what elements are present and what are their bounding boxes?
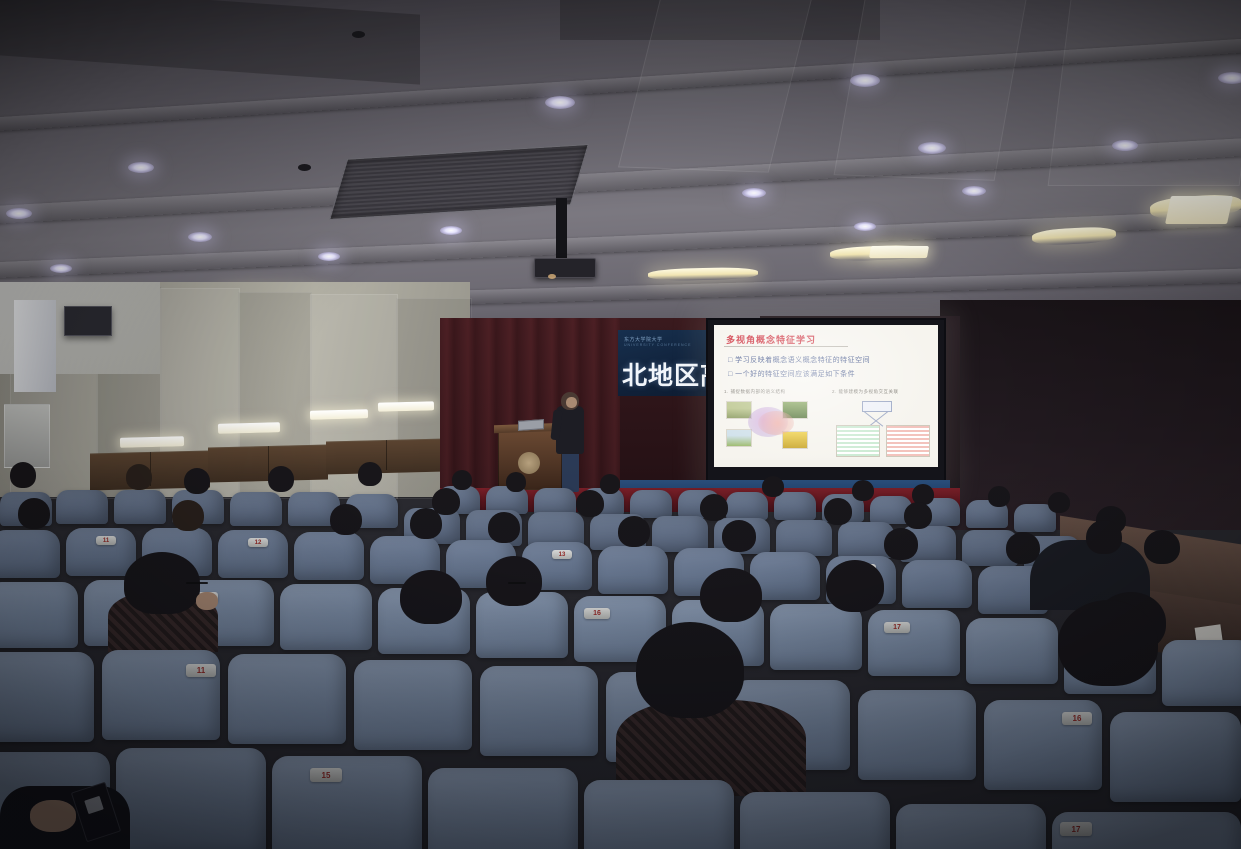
seat-number-plate: 16 [1062,712,1092,725]
seat-number-plate: 17 [884,622,910,633]
seat[interactable] [0,530,60,578]
doorway-light [14,300,56,392]
laptop [518,419,544,431]
wall-sconce [120,436,184,448]
seat[interactable] [280,584,372,650]
slide-image-pink-shirt [886,425,930,457]
slide-title: 多视角概念特征学习 [726,333,816,346]
presenter-face [566,397,577,408]
right-wall [940,300,1241,530]
seat-number-plate: 12 [248,538,268,547]
seat[interactable] [740,792,890,849]
attendee-head [700,494,728,521]
attendee-hand [196,592,218,610]
attendee-head [410,508,442,539]
seat-number-plate: 11 [96,536,116,545]
seat-number-plate: 11 [186,664,216,677]
ceiling-downlight [854,222,876,231]
projector [534,258,596,278]
banner-subtitle-latin: UNIVERSITY CONFERENCE [624,343,691,347]
lectern-emblem [518,452,540,474]
seat[interactable] [896,804,1046,849]
wall-sconce [218,422,280,434]
attendee-head [722,520,756,552]
wall-sconce [378,401,434,411]
attendee-head [10,462,36,488]
attendee-head [1086,520,1122,554]
smoke-detector-icon [298,164,311,171]
seat-number-plate: 17 [1060,822,1092,836]
ceiling-downlight [1112,140,1138,151]
ceiling-downlight [1218,72,1241,84]
attendee-head [268,466,294,492]
attendee-head [126,464,152,490]
seat[interactable] [774,492,816,520]
seat[interactable] [114,490,166,524]
ceiling-downlight [128,162,154,173]
attendee-head [762,476,784,497]
ceiling [0,0,1241,330]
attendee-head [172,500,204,531]
attendee-head [486,556,542,606]
ceiling-downlight [962,186,986,196]
ceiling-downlight [545,96,575,109]
seat[interactable] [272,756,422,849]
attendee-head [184,468,210,494]
air-vent-grille [329,144,589,220]
cove-light [869,246,929,258]
slide-image-green-shirt [836,425,880,457]
seat[interactable] [230,492,282,526]
seat[interactable] [726,492,768,520]
attendee-head [700,568,762,622]
seat[interactable] [902,560,972,608]
attendee-head [988,486,1010,507]
smoke-detector-icon [352,31,365,38]
seat[interactable] [776,520,832,556]
seat-number-plate: 15 [310,768,342,782]
attendee-head [852,480,874,501]
ceiling-downlight [6,208,32,219]
ceiling-downlight [918,142,946,154]
ceiling-downlight [318,252,340,261]
seat[interactable] [0,582,78,648]
attendee-head [18,498,50,529]
ceiling-downlight [440,226,462,235]
slide-concept-blob [758,411,794,435]
attendee-head [452,470,472,490]
attendee-head [576,490,604,517]
attendee-head [358,462,382,486]
wall-loudspeaker [64,306,112,336]
projector-lens-icon [548,274,556,279]
seat[interactable] [1110,712,1241,802]
glasses-icon [508,582,526,584]
attendee-head [824,498,852,525]
attendee-hand [30,800,76,832]
slide-thumbnail-field [726,429,752,447]
slide-bullet: □ 学习反映着概念语义概念特征的特征空间 [728,355,870,365]
seat[interactable] [0,652,94,742]
seat[interactable] [966,618,1058,684]
presenter-legs [562,450,579,492]
projector-mount-pole [556,198,567,260]
attendee-head [826,560,884,612]
ceiling-downlight [188,232,212,242]
attendee-head [618,516,650,547]
seat[interactable] [868,610,960,676]
slide-thumbnail-yellow-flower [782,431,808,449]
seat[interactable] [294,532,364,580]
glasses-icon [186,582,208,584]
projection-screen: 多视角概念特征学习 □ 学习反映着概念语义概念特征的特征空间 □ 一个好的特征空… [706,318,946,490]
seat[interactable] [428,768,578,849]
slide-bullet: □ 一个好的特征空间应该满足如下条件 [728,369,855,379]
seat[interactable] [858,690,976,780]
attendee-head [904,502,932,529]
lecture-hall-photo: 东方大学院大学 UNIVERSITY CONFERENCE 北地区高 多视角概念… [0,0,1241,849]
attendee-head [1144,530,1180,564]
slide-section-label: 2. 能够建模为多视角交互关联 [832,389,899,395]
ceiling-downlight [742,188,766,198]
attendee-head [330,504,362,535]
attendee-head [1048,492,1070,513]
seat-number-plate: 13 [552,550,572,559]
banner-subtitle: 东方大学院大学 [624,336,663,343]
slide-content: 多视角概念特征学习 □ 学习反映着概念语义概念特征的特征空间 □ 一个好的特征空… [714,325,938,467]
seat[interactable] [56,490,108,524]
attendee-head [600,474,620,494]
seat[interactable] [354,660,472,750]
seat[interactable] [652,516,708,552]
equipment-cabinet [4,404,50,468]
ceiling-downlight [850,74,880,87]
attendee-head [1058,600,1158,686]
cove-light [648,267,758,281]
ceiling-downlight [50,264,72,273]
seat[interactable] [1162,640,1241,706]
attendee-head [488,512,520,543]
slide-section-label: 1. 捕捉数据内部的语义结构 [724,389,786,395]
attendee-head [636,622,744,718]
seat[interactable] [584,780,734,849]
seat[interactable] [228,654,346,744]
seat[interactable] [116,748,266,849]
wall-sconce [310,409,368,420]
attendee-head [884,528,918,560]
seat[interactable] [480,666,598,756]
attendee-head [506,472,526,492]
seat-number-plate: 16 [584,608,610,619]
seat[interactable] [598,546,668,594]
